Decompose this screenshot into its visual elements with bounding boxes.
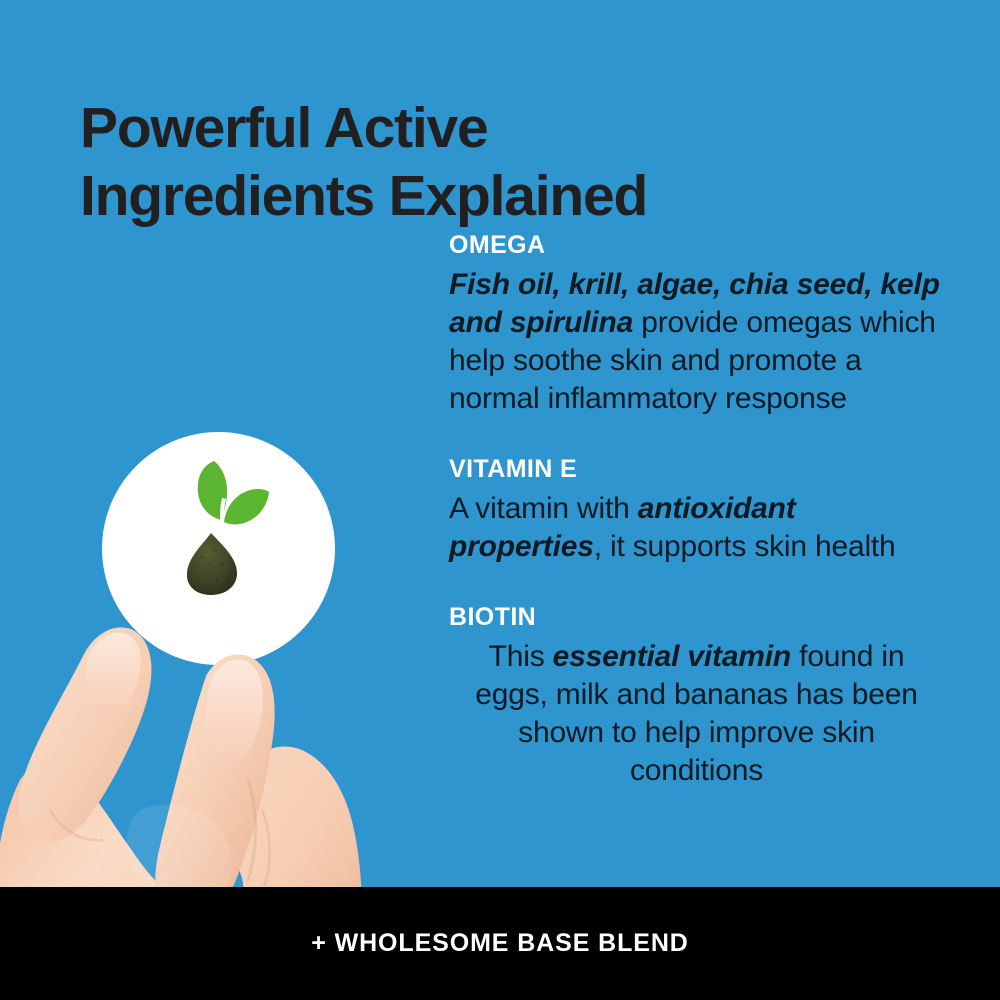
section-vitamin-e-tail: , it supports skin health [594,530,896,563]
page-title-line-1: Powerful Active [80,94,840,162]
section-vitamin-e-lead: A vitamin with [449,492,638,525]
product-illustration [0,200,440,900]
section-biotin-lead: This [489,640,553,673]
section-biotin: BIOTIN This essential vitamin found in e… [449,600,944,790]
section-omega-body: Fish oil, krill, algae, chia seed, kelp … [449,266,944,418]
section-vitamin-e-body: A vitamin with antioxidant properties, i… [449,490,944,566]
section-omega-heading: OMEGA [449,228,944,262]
section-omega: OMEGA Fish oil, krill, algae, chia seed,… [449,228,944,418]
section-vitamin-e-heading: VITAMIN E [449,452,944,486]
section-biotin-heading: BIOTIN [449,600,944,634]
section-vitamin-e: VITAMIN E A vitamin with antioxidant pro… [449,452,944,566]
base-blend-banner: + WHOLESOME BASE BLEND [0,887,1000,1000]
section-biotin-body: This essential vitamin found in eggs, mi… [449,638,944,790]
section-biotin-emphasis: essential vitamin [553,640,791,673]
base-blend-banner-text: + WHOLESOME BASE BLEND [311,929,688,958]
ingredients-infographic: Powerful Active Ingredients Explained [0,0,1000,1000]
ingredient-sections: OMEGA Fish oil, krill, algae, chia seed,… [449,228,944,790]
